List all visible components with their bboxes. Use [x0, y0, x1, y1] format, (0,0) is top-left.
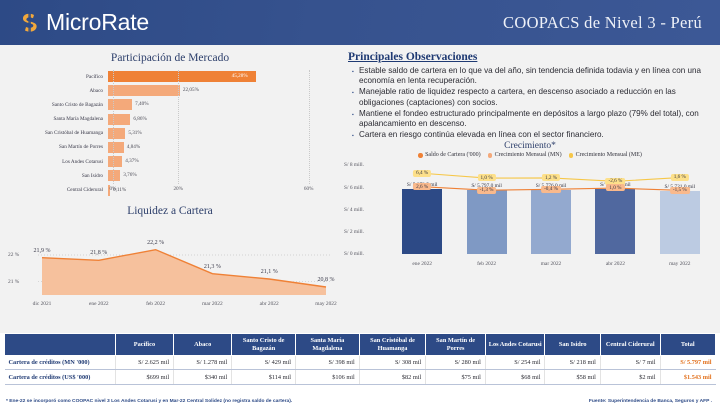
- legend-label: Crecimiento Mensual (MN): [495, 152, 562, 158]
- left-panel: Participación de Mercado Pacífico45,28%A…: [0, 45, 340, 333]
- growth-x-tick: may 2022: [669, 261, 690, 267]
- market-share-row: San Martín de Porres4,84%: [8, 141, 332, 154]
- market-share-value: 6,86%: [133, 116, 146, 122]
- growth-x-tick: abr 2022: [606, 261, 625, 267]
- market-share-value: 5,31%: [128, 130, 141, 136]
- market-share-bar: [108, 156, 122, 167]
- growth-y-tick: S/ 2 mill.: [344, 229, 364, 235]
- liquidity-y-tick: 21 %: [8, 279, 19, 285]
- growth-me-label: 1,6 %: [671, 174, 689, 181]
- market-share-bar-wrap: 7,40%: [108, 99, 332, 110]
- legend-dot-icon: [569, 153, 574, 158]
- table-cell: $106 mil: [296, 370, 360, 384]
- table-column-header: [5, 334, 116, 356]
- market-share-bar: [108, 114, 130, 125]
- market-share-label: Santo Cristo de Bagazán: [8, 102, 108, 108]
- liquidity-x-tick: may 2022: [315, 301, 336, 307]
- growth-x-tick: ene 2022: [412, 261, 432, 267]
- market-share-label: Central Ciderural: [8, 187, 108, 193]
- market-share-value: 4,84%: [127, 144, 140, 150]
- market-share-value: 7,40%: [135, 101, 148, 107]
- liquidity-point-label: 22,2 %: [147, 240, 164, 246]
- market-share-row: San Isidro3,76%: [8, 169, 332, 182]
- legend-dot-icon: [418, 153, 423, 158]
- market-share-bar: [108, 128, 125, 139]
- table-cell: $114 mil: [232, 370, 296, 384]
- market-share-tick: 20%: [173, 186, 183, 192]
- market-share-label: Santa María Magdalena: [8, 116, 108, 122]
- portfolio-table: PacíficoAbacoSanto Cristo de BagazánSant…: [4, 333, 716, 385]
- table-cell: S/ 2.625 mil: [115, 356, 173, 370]
- growth-title: Crecimiento*: [340, 141, 720, 151]
- table-row-label: Cartera de créditos (MN '000): [5, 356, 116, 370]
- market-share-gridline: [178, 70, 179, 184]
- legend-item: Saldo de Cartera ('000): [418, 152, 481, 158]
- observations-title: Principales Observaciones: [340, 45, 720, 66]
- table-total-cell: $1.543 mil: [660, 370, 715, 384]
- liquidity-point-label: 21,1 %: [261, 269, 278, 275]
- table-column-header: Santa María Magdalena: [296, 334, 360, 356]
- liquidity-chart: 22 %21 %21,9 %21,8 %22,2 %21,3 %21,1 %20…: [6, 219, 334, 319]
- liquidity-x-tick: feb 2022: [146, 301, 165, 307]
- growth-bar: [402, 189, 442, 254]
- table-cell: $75 mil: [426, 370, 486, 384]
- market-share-row: San Cristóbal de Huamanga5,31%: [8, 127, 332, 140]
- market-share-row: Santa María Magdalena6,86%: [8, 113, 332, 126]
- table-row: Cartera de créditos (US$ '000)$699 mil$3…: [5, 370, 716, 384]
- liquidity-x-tick: ene 2022: [89, 301, 109, 307]
- table-column-header: Central Ciderural: [600, 334, 660, 356]
- liquidity-point-label: 21,9 %: [34, 248, 51, 254]
- table-column-header: San Martín de Porres: [426, 334, 486, 356]
- table-column-header: Pacífico: [115, 334, 173, 356]
- market-share-row: Abaco22,05%: [8, 84, 332, 97]
- liquidity-x-tick: mar 2022: [202, 301, 223, 307]
- table-cell: S/ 7 mil: [600, 356, 660, 370]
- growth-me-label: 1,2 %: [542, 174, 560, 181]
- table-cell: $82 mil: [359, 370, 426, 384]
- legend-label: Crecimiento Mensual (ME): [576, 152, 642, 158]
- market-share-chart: Pacífico45,28%Abaco22,05%Santo Cristo de…: [8, 70, 332, 198]
- market-share-gridline: [309, 70, 310, 184]
- growth-bar: [595, 189, 635, 254]
- market-share-label: Pacífico: [8, 74, 108, 80]
- liquidity-point-label: 21,3 %: [204, 264, 221, 270]
- growth-x-tick: mar 2022: [541, 261, 562, 267]
- table-cell: $58 mil: [545, 370, 600, 384]
- app-header: MicroRate COOPACS de Nivel 3 - Perú: [0, 0, 720, 45]
- table-cell: S/ 218 mil: [545, 356, 600, 370]
- table-column-header: Santo Cristo de Bagazán: [232, 334, 296, 356]
- market-share-label: Los Andes Cotarusi: [8, 159, 108, 165]
- growth-y-tick: S/ 8 mill.: [344, 162, 364, 168]
- growth-y-tick: S/ 4 mill.: [344, 207, 364, 213]
- market-share-row: Los Andes Cotarusi4,37%: [8, 155, 332, 168]
- market-share-tick: 0%: [110, 186, 117, 192]
- growth-chart: S/ 8 mill.S/ 6 mill.S/ 4 mill.S/ 2 mill.…: [344, 159, 716, 267]
- table-cell: $699 mil: [115, 370, 173, 384]
- market-share-bar-wrap: 6,86%: [108, 114, 332, 125]
- market-share-row: Pacífico45,28%: [8, 70, 332, 83]
- brand-name: MicroRate: [46, 9, 149, 36]
- table-cell: S/ 398 mil: [296, 356, 360, 370]
- liquidity-x-tick: abr 2022: [260, 301, 279, 307]
- market-share-bar-wrap: 4,84%: [108, 142, 332, 153]
- observation-item: Cartera en riesgo continúa elevada en lí…: [352, 130, 712, 140]
- table-cell: $68 mil: [485, 370, 545, 384]
- table-cell: S/ 1.278 mil: [174, 356, 232, 370]
- table-column-header: Total: [660, 334, 715, 356]
- observations-list: Estable saldo de cartera en lo que va de…: [340, 66, 720, 140]
- market-share-bar: [108, 85, 180, 96]
- growth-y-tick: S/ 6 mill.: [344, 185, 364, 191]
- table-column-header: Los Andes Cotarusi: [485, 334, 545, 356]
- table-row-label: Cartera de créditos (US$ '000): [5, 370, 116, 384]
- market-share-bar-wrap: 3,76%: [108, 170, 332, 181]
- legend-item: Crecimiento Mensual (MN): [488, 152, 562, 158]
- observation-item: Manejable ratio de liquidez respecto a c…: [352, 87, 712, 108]
- market-share-bar-wrap: 4,37%: [108, 156, 332, 167]
- market-share-value: 4,37%: [125, 158, 138, 164]
- growth-mn-label: -1,5 %: [670, 187, 690, 194]
- market-share-label: San Cristóbal de Huamanga: [8, 130, 108, 136]
- market-share-label: San Isidro: [8, 173, 108, 179]
- s-logo-icon: [20, 12, 40, 33]
- growth-bar: [531, 190, 571, 254]
- growth-y-tick: S/ 0 mill.: [344, 251, 364, 257]
- observation-item: Estable saldo de cartera en lo que va de…: [352, 66, 712, 87]
- market-share-bar-wrap: 45,28%: [108, 71, 332, 82]
- right-panel: Principales Observaciones Estable saldo …: [340, 45, 720, 333]
- table-cell: $2 mil: [600, 370, 660, 384]
- table-cell: S/ 254 mil: [485, 356, 545, 370]
- growth-mn-label: -1,3 %: [477, 187, 497, 194]
- footnote: * Ene-22 se incorporó como COOPAC nivel …: [6, 399, 292, 404]
- liquidity-point-label: 20,8 %: [318, 277, 335, 283]
- table-column-header: Abaco: [174, 334, 232, 356]
- growth-mn-label: 2,6 %: [413, 183, 431, 190]
- table-cell: S/ 308 mil: [359, 356, 426, 370]
- growth-legend: Saldo de Cartera ('000)Crecimiento Mensu…: [340, 152, 720, 158]
- page-title: COOPACS de Nivel 3 - Perú: [503, 13, 702, 33]
- market-share-bar-wrap: 5,31%: [108, 128, 332, 139]
- market-share-bar-wrap: 22,05%: [108, 85, 332, 96]
- table-header-row: PacíficoAbacoSanto Cristo de BagazánSant…: [5, 334, 716, 356]
- market-share-x-axis: 0%20%60%: [113, 186, 332, 198]
- observation-item: Mantiene el fondeo estructurado principa…: [352, 109, 712, 130]
- table-column-header: San Cristóbal de Huamanga: [359, 334, 426, 356]
- market-share-label: Abaco: [8, 88, 108, 94]
- liquidity-title: Liquidez a Cartera: [0, 198, 340, 217]
- liquidity-x-tick: dic 2021: [33, 301, 52, 307]
- table-cell: S/ 429 mil: [232, 356, 296, 370]
- liquidity-point-label: 21,8 %: [90, 250, 107, 256]
- table-total-cell: S/ 5.797 mil: [660, 356, 715, 370]
- market-share-value: 45,28%: [232, 73, 248, 79]
- growth-mn-label: 1,0 %: [606, 184, 624, 191]
- market-share-gridline: [113, 70, 114, 184]
- growth-bar: [467, 190, 507, 254]
- market-share-row: Santo Cristo de Bagazán7,40%: [8, 98, 332, 111]
- growth-me-label: 1,0 %: [478, 174, 496, 181]
- source-note: Fuente: Superintendencia de Banca, Segur…: [589, 399, 712, 404]
- market-share-tick: 60%: [304, 186, 314, 192]
- liquidity-y-tick: 22 %: [8, 252, 19, 258]
- market-share-value: 22,05%: [183, 87, 199, 93]
- growth-mn-label: -0,4 %: [541, 186, 561, 193]
- market-share-bar: [108, 142, 124, 153]
- growth-bar: [660, 191, 700, 255]
- legend-label: Saldo de Cartera ('000): [425, 152, 481, 158]
- market-share-bar: [108, 99, 132, 110]
- legend-item: Crecimiento Mensual (ME): [569, 152, 642, 158]
- brand: MicroRate: [20, 9, 149, 36]
- growth-x-tick: feb 2022: [477, 261, 496, 267]
- table-column-header: San Isidro: [545, 334, 600, 356]
- table-cell: S/ 280 mil: [426, 356, 486, 370]
- market-share-label: San Martín de Porres: [8, 144, 108, 150]
- growth-me-label: 6,4 %: [413, 170, 431, 177]
- market-share-value: 3,76%: [123, 172, 136, 178]
- table-row: Cartera de créditos (MN '000)S/ 2.625 mi…: [5, 356, 716, 370]
- market-share-bar: [108, 170, 120, 181]
- market-share-title: Participación de Mercado: [0, 45, 340, 64]
- legend-dot-icon: [488, 153, 493, 158]
- table-cell: $340 mil: [174, 370, 232, 384]
